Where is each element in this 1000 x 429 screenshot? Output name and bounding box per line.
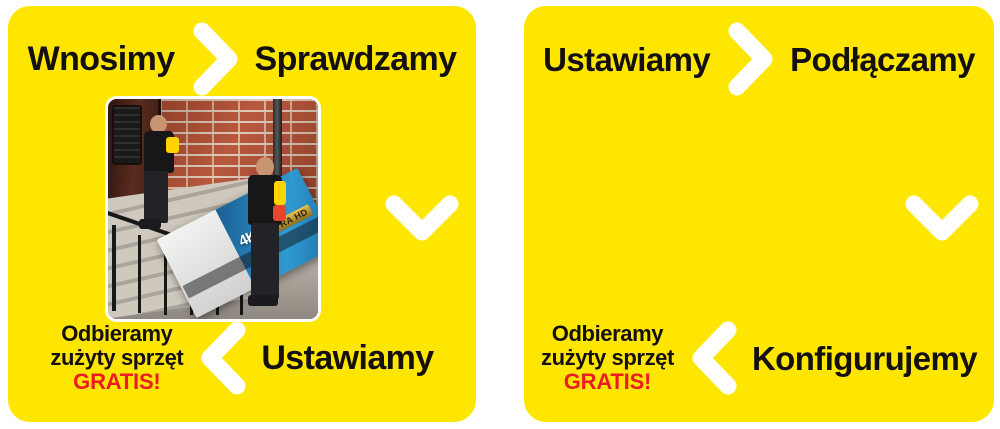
recycle-line-2: zużyty sprzęt [541, 346, 674, 370]
step-label-konfigurujemy: Konfigurujemy [752, 342, 977, 375]
chevron-right-icon [193, 22, 239, 96]
chevron-down-icon [904, 192, 980, 248]
delivery-steps-panel: Wnosimy Sprawdzamy [8, 6, 476, 422]
chevron-down-icon [384, 192, 460, 248]
photo-carrying-tv-upstairs: 4K ULTRA HD [108, 99, 318, 319]
step-label-ustawiamy: Ustawiamy [261, 341, 433, 375]
step-label-ustawiamy-top: Ustawiamy [543, 43, 710, 76]
recycle-line-1: Odbieramy [541, 322, 674, 346]
recycle-offer-right: Odbieramy zużyty sprzęt GRATIS! [541, 322, 674, 393]
photo-right-alt-text: Serwisant w żółtej koszulce konfiguruje … [0, 0, 1, 1]
recycle-line-2: zużyty sprzęt [50, 346, 183, 370]
panel-left-bottom-row: Odbieramy zużyty sprzęt GRATIS! Ustawiam… [8, 312, 476, 404]
step-label-podlaczamy: Podłączamy [790, 43, 975, 76]
step-label-sprawdzamy: Sprawdzamy [255, 42, 457, 76]
recycle-line-1: Odbieramy [50, 322, 183, 346]
infographic-stage: Wnosimy Sprawdzamy [0, 0, 1000, 429]
panel-right-top-row: Ustawiamy Podłączamy [524, 28, 994, 90]
panel-left-top-row: Wnosimy Sprawdzamy [8, 28, 476, 90]
recycle-free-badge: GRATIS! [50, 370, 183, 394]
chevron-right-icon [728, 22, 774, 96]
panel-right-bottom-row: Odbieramy zużyty sprzęt GRATIS! Konfigur… [524, 312, 994, 404]
step-label-wnosimy: Wnosimy [28, 42, 175, 76]
recycle-free-badge: GRATIS! [541, 370, 674, 394]
chevron-left-icon [690, 320, 738, 396]
chevron-left-icon [199, 320, 247, 396]
recycle-offer-left: Odbieramy zużyty sprzęt GRATIS! [50, 322, 183, 393]
installation-steps-panel: Ustawiamy Podłączamy [524, 6, 994, 422]
photo-left-alt-text: Dwóch pracowników w czarno-żółtych unifo… [0, 0, 1, 1]
